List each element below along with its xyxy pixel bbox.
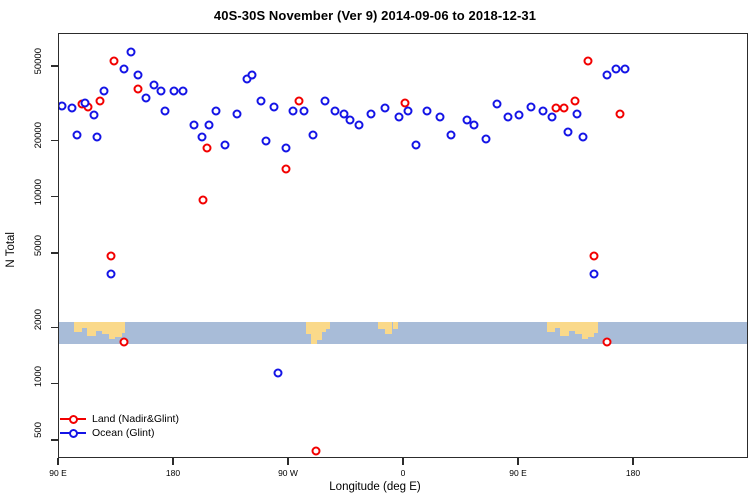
data-point-land [295, 96, 304, 105]
y-axis-label-text: N Total [5, 232, 17, 268]
data-point-ocean [481, 135, 490, 144]
y-tick [51, 327, 58, 328]
data-point-ocean [526, 103, 535, 112]
data-point-land [282, 165, 291, 174]
x-tick [172, 458, 173, 465]
data-point-ocean [309, 131, 318, 140]
data-point-ocean [435, 112, 444, 121]
data-point-ocean [99, 87, 108, 96]
data-point-land [199, 196, 208, 205]
data-point-ocean [178, 87, 187, 96]
data-point-land [203, 143, 212, 152]
data-point-ocean [355, 120, 364, 129]
data-point-land [311, 447, 320, 456]
chart-root: 40S-30S November (Ver 9) 2014-09-06 to 2… [0, 0, 750, 500]
land-mass [547, 322, 555, 332]
data-point-ocean [447, 131, 456, 140]
land-mass [87, 322, 96, 335]
land-mass [74, 322, 82, 332]
data-point-land [95, 96, 104, 105]
data-point-ocean [470, 120, 479, 129]
x-tick [632, 458, 633, 465]
data-point-ocean [269, 103, 278, 112]
map-band [59, 322, 748, 343]
data-point-ocean [300, 107, 309, 116]
land-mass [393, 322, 398, 328]
data-point-land [603, 337, 612, 346]
data-point-ocean [161, 107, 170, 116]
data-point-land [571, 96, 580, 105]
data-point-land [134, 85, 143, 94]
data-point-ocean [134, 71, 143, 80]
data-point-ocean [612, 64, 621, 73]
data-point-ocean [204, 120, 213, 129]
data-point-ocean [282, 143, 291, 152]
land-mass [560, 322, 569, 335]
y-tick-label: 50000 [33, 48, 44, 74]
legend: Land (Nadir&Glint) Ocean (Glint) [60, 412, 179, 440]
y-tick-label: 5000 [33, 235, 44, 256]
x-axis-label: Longitude (deg E) [0, 481, 750, 493]
data-point-ocean [366, 110, 375, 119]
x-tick [287, 458, 288, 465]
y-tick [51, 252, 58, 253]
data-point-ocean [93, 133, 102, 142]
data-point-ocean [346, 116, 355, 125]
y-tick [51, 383, 58, 384]
data-point-ocean [157, 87, 166, 96]
x-tick-label: 90 W [278, 468, 298, 478]
data-point-ocean [262, 137, 271, 146]
y-tick-label: 1000 [33, 366, 44, 387]
legend-item-ocean: Ocean (Glint) [60, 426, 179, 440]
y-tick [51, 65, 58, 66]
data-point-ocean [288, 107, 297, 116]
data-point-ocean [247, 71, 256, 80]
chart-title: 40S-30S November (Ver 9) 2014-09-06 to 2… [0, 8, 750, 23]
data-point-land [107, 251, 116, 260]
data-point-ocean [403, 107, 412, 116]
data-point-ocean [578, 133, 587, 142]
data-point-ocean [232, 110, 241, 119]
data-point-ocean [572, 110, 581, 119]
data-point-ocean [380, 104, 389, 113]
land-mass [326, 322, 330, 328]
data-point-land [584, 56, 593, 65]
data-point-ocean [273, 368, 282, 377]
x-tick [57, 458, 58, 465]
data-point-ocean [515, 111, 524, 120]
data-point-ocean [80, 99, 89, 108]
data-point-ocean [198, 133, 207, 142]
data-point-ocean [563, 127, 572, 136]
data-point-ocean [190, 120, 199, 129]
data-point-ocean [331, 107, 340, 116]
data-point-ocean [603, 71, 612, 80]
data-point-land [615, 110, 624, 119]
data-point-ocean [256, 96, 265, 105]
data-point-ocean [58, 101, 66, 110]
data-point-ocean [120, 64, 129, 73]
x-tick-label: 180 [166, 468, 180, 478]
data-point-ocean [107, 270, 116, 279]
data-point-ocean [548, 112, 557, 121]
data-point-ocean [141, 94, 150, 103]
data-point-ocean [221, 140, 230, 149]
data-point-land [120, 337, 129, 346]
y-tick-label: 500 [33, 422, 44, 438]
x-tick-label: 90 E [49, 468, 67, 478]
y-axis-label: N Total [4, 0, 18, 500]
data-point-land [109, 56, 118, 65]
data-point-ocean [212, 107, 221, 116]
x-tick-label: 90 E [509, 468, 527, 478]
data-point-ocean [503, 112, 512, 121]
data-point-ocean [394, 112, 403, 121]
x-tick [402, 458, 403, 465]
data-point-ocean [590, 270, 599, 279]
land-mass [385, 322, 393, 333]
data-point-ocean [89, 111, 98, 120]
y-tick-label: 2000 [33, 309, 44, 330]
y-tick-label: 20000 [33, 122, 44, 148]
legend-label-ocean: Ocean (Glint) [92, 427, 154, 439]
data-point-ocean [67, 104, 76, 113]
data-point-ocean [72, 131, 81, 140]
data-point-ocean [411, 140, 420, 149]
y-tick [51, 439, 58, 440]
data-point-ocean [126, 48, 135, 57]
data-point-ocean [539, 107, 548, 116]
legend-marker-ocean-icon [60, 427, 86, 439]
data-point-ocean [320, 96, 329, 105]
plot-frame [58, 33, 748, 458]
legend-item-land: Land (Nadir&Glint) [60, 412, 179, 426]
data-point-land [559, 104, 568, 113]
data-point-ocean [423, 107, 432, 116]
y-tick [51, 140, 58, 141]
land-mass [594, 322, 598, 333]
data-point-ocean [170, 87, 179, 96]
x-tick [517, 458, 518, 465]
y-tick [51, 196, 58, 197]
x-tick-label: 0 [401, 468, 406, 478]
data-point-land [590, 251, 599, 260]
legend-label-land: Land (Nadir&Glint) [92, 413, 179, 425]
land-mass [122, 322, 126, 333]
data-point-ocean [493, 100, 502, 109]
legend-marker-land-icon [60, 413, 86, 425]
x-tick-label: 180 [626, 468, 640, 478]
data-point-ocean [621, 64, 630, 73]
y-tick-label: 10000 [33, 179, 44, 205]
